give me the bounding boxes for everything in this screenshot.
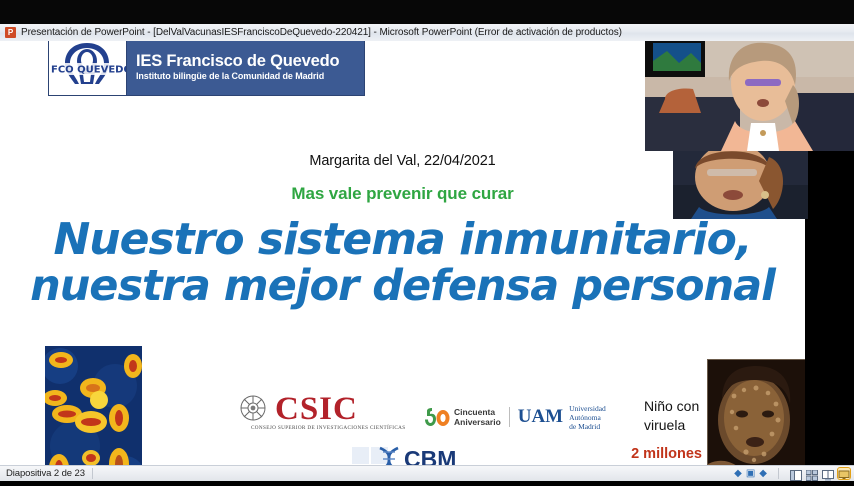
ies-institution-banner: FCO QUEVEDO IES Francisco de Quevedo Ins…	[48, 41, 365, 96]
status-bar-controls: ◆ ▣ ◆	[734, 468, 854, 479]
cincuenta-aniversario-text: Cincuenta Aniversario	[454, 407, 501, 427]
csic-wordmark: CSIC	[275, 393, 358, 426]
logo-divider	[509, 407, 510, 427]
normal-view-icon[interactable]	[790, 468, 802, 479]
csic-emblem-icon	[235, 393, 271, 425]
speaker-webcam-video[interactable]	[645, 41, 854, 151]
virus-particles-graphic	[45, 346, 142, 465]
screen: P Presentación de PowerPoint - [DelValVa…	[0, 0, 854, 480]
status-separator-2	[778, 468, 779, 479]
screen-top-letterbox	[0, 0, 854, 24]
uam-wordmark: UAM	[518, 406, 563, 428]
slide-title-line-2: nuestra mejor defensa personal	[0, 263, 805, 309]
uam-anniversary-logo-group: Cincuenta Aniversario UAM Universidad Au…	[424, 404, 634, 430]
cbm-square-1	[352, 447, 369, 464]
smallpox-virus-micrograph-image	[45, 346, 142, 465]
participant-webcam-frame	[673, 151, 808, 219]
status-bar: Diapositiva 2 de 23 ◆ ▣ ◆	[0, 465, 854, 481]
slide-title-line-1: Nuestro sistema inmunitario,	[53, 214, 751, 265]
uam-line-1: Universidad Autónoma	[569, 404, 634, 422]
ies-subtitle: Instituto bilingüe de la Comunidad de Ma…	[136, 70, 364, 82]
child-with-smallpox-image	[707, 359, 805, 465]
window-title-bar[interactable]: P Presentación de PowerPoint - [DelValVa…	[0, 24, 854, 42]
child-caption: Niño con viruela	[644, 397, 699, 435]
dna-helix-icon	[372, 446, 406, 465]
cbm-severo-ochoa-logo: CBM Severo Ochoa CENTRO DE BIOLOGIA MOLE…	[352, 445, 477, 465]
previous-arrow-icon[interactable]: ◆	[734, 468, 742, 479]
ies-crest-logo: FCO QUEVEDO	[49, 41, 127, 95]
cincuenta-line-2: Aniversario	[454, 417, 501, 427]
speaker-webcam-frame	[645, 41, 854, 151]
cbm-wordmark: CBM	[404, 447, 456, 465]
slide-main-title: Nuestro sistema inmunitario, nuestra mej…	[0, 217, 805, 309]
uam-fullname: Universidad Autónoma de Madrid	[569, 404, 634, 431]
participant-webcam-video[interactable]	[673, 151, 808, 219]
slide-counter: Diapositiva 2 de 23	[0, 468, 85, 479]
page-icon[interactable]: ▣	[746, 468, 755, 479]
cincuenta-line-1: Cincuenta	[454, 407, 501, 417]
uam-line-2: de Madrid	[569, 422, 634, 431]
ies-banner-text: IES Francisco de Quevedo Instituto bilin…	[127, 41, 364, 95]
slideshow-view-icon[interactable]	[838, 468, 850, 479]
deaths-statistic: 2 millones de muertes en 1967	[612, 445, 702, 465]
cincuenta-aniversario-icon	[424, 407, 450, 427]
child-caption-line-1: Niño con	[644, 397, 699, 416]
quevedo-crest-icon: FCO QUEVEDO	[49, 41, 126, 93]
svg-text:FCO QUEVEDO: FCO QUEVEDO	[51, 65, 126, 76]
slide-sorter-view-icon[interactable]	[806, 468, 818, 479]
reading-view-icon[interactable]	[822, 468, 834, 479]
child-caption-line-2: viruela	[644, 416, 699, 435]
status-separator	[92, 468, 93, 479]
child-photo-graphic	[708, 360, 805, 465]
powerpoint-icon: P	[5, 27, 16, 38]
next-arrow-icon[interactable]: ◆	[759, 468, 767, 479]
ies-name: IES Francisco de Quevedo	[136, 52, 364, 70]
csic-logo: CSIC CONSEJO SUPERIOR DE INVESTIGACIONES…	[233, 391, 383, 433]
uam-wordmark-text: UAM	[518, 406, 563, 427]
presentation-viewport: FCO QUEVEDO IES Francisco de Quevedo Ins…	[0, 41, 854, 465]
deaths-line-1: 2 millones	[612, 445, 702, 464]
csic-subtitle: CONSEJO SUPERIOR DE INVESTIGACIONES CIEN…	[251, 425, 406, 431]
window-title-text: Presentación de PowerPoint - [DelValVacu…	[21, 27, 622, 38]
